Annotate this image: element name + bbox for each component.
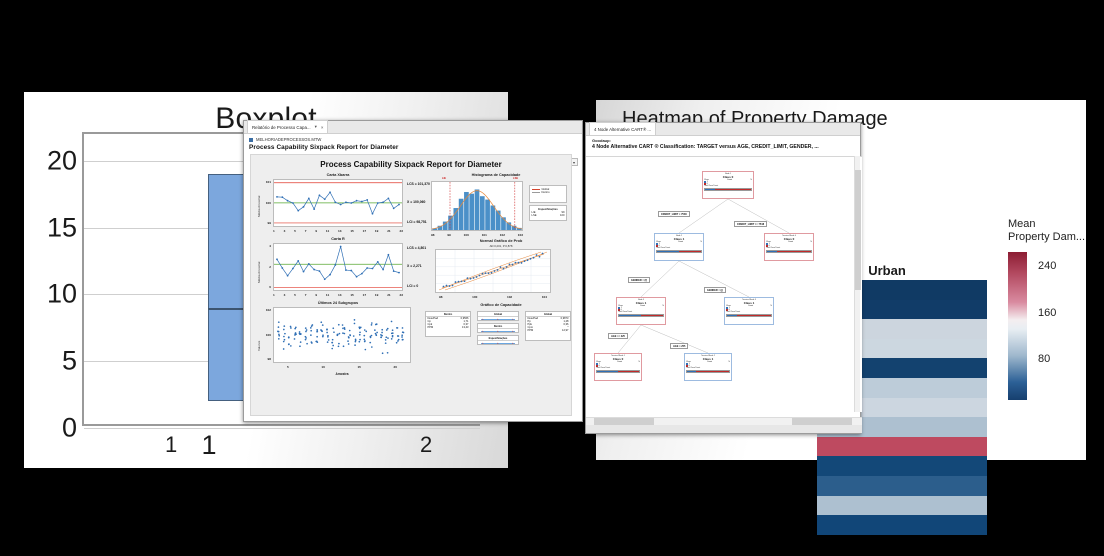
cart-class-pct (663, 309, 664, 311)
window-minitab[interactable]: Relatório de Processo Capa... ▾ × MELHOR… (243, 120, 583, 422)
cart-bar-segment-1 (687, 371, 696, 372)
probplot-title: Normal Gráfico de Prob (426, 239, 576, 243)
tick-label: 17 (363, 229, 366, 233)
histogram-lie-marker: LIE (442, 177, 446, 180)
probplot-svg (436, 250, 550, 292)
cart-class-count (743, 183, 744, 185)
slide-number-1: 1 (165, 432, 177, 458)
tick-label: 15 (357, 365, 360, 369)
cart-node[interactable]: Terminal Node 3Class 1ClassCount%1 0 Tot… (724, 297, 774, 325)
subgroups-ytick-hi: 102 (261, 308, 271, 312)
x-tick-1: 1 (144, 430, 274, 461)
cart-bar-segment-1 (767, 251, 777, 252)
y-tick-10: 10 (47, 279, 77, 310)
xbar-ytick-hi: 101 (263, 180, 271, 184)
cart-node-bar-header: Total Class/Count (596, 367, 640, 369)
r-center: X = 2,271 (407, 264, 422, 268)
window-cart[interactable]: 4 Node Alternative CART® ... Goodaup: 4 … (585, 122, 861, 434)
probplot-subtitle: AD:0,201, P:0,878 (426, 244, 576, 248)
cart-node-bar-header: Total Class/Count (766, 247, 812, 249)
r-y-ticks: 4 2 0 (265, 244, 271, 289)
tick-label: 9 (315, 293, 317, 297)
table-cell-value: 12,97 (562, 329, 569, 332)
cart-node[interactable]: Node 1Class 0ClassCount%1 0 Total Class/… (702, 171, 754, 199)
cart-split-label: CREDIT_LIMIT < 7548 (658, 211, 690, 217)
cart-node[interactable]: Terminal Node 4Class 0ClassCount%1 0 Tot… (764, 233, 814, 261)
cart-vscroll-thumb[interactable] (855, 170, 861, 290)
tick-label: 19 (375, 229, 378, 233)
tick-label: 5 (294, 229, 296, 233)
cart-node[interactable]: Terminal Node 1Class 0ClassCount%1 0 Tot… (594, 353, 642, 381)
histogram-spec-box: Especificações LIE 99 LSE 100 (529, 205, 567, 221)
histogram-x-ticks: 9899100101102103 (431, 233, 523, 237)
slide-number-2: 2 (420, 432, 432, 458)
slide-canvas: Boxplot 20 15 10 5 0 1 Heatmap of Proper… (0, 0, 1104, 556)
tick-label: 10 (321, 365, 324, 369)
heatmap-cell[interactable] (817, 456, 987, 476)
cart-class-count (631, 365, 632, 367)
legend-swatch-global (532, 189, 540, 190)
tick-label: 15 (350, 293, 353, 297)
cart-title: 4 Node Alternative CART ® Classification… (586, 143, 860, 153)
minitab-report-heading: Process Capability Sixpack Report for Di… (244, 142, 582, 154)
legend-title-line2: Property Dam... (1008, 231, 1104, 244)
histogram-legend: Global Dentro (529, 185, 567, 203)
cart-node[interactable]: Terminal Node 2Class 1ClassCount%1 0 Tot… (684, 353, 732, 381)
cart-bar-segment-0 (618, 371, 639, 372)
cart-col-count: Count (707, 361, 712, 363)
tick-label: 98 (431, 233, 434, 237)
capability-strip-global: Global + + + (477, 311, 519, 321)
table-cell-label: PPM (528, 329, 534, 332)
cart-class-count (655, 309, 656, 311)
histogram-svg (432, 182, 522, 230)
xbar-ytick-mid: 100 (263, 201, 271, 205)
table-cell-label: PPM (428, 326, 434, 329)
minitab-file-name: MELHORIADEPROCESSOS.MTW (256, 137, 321, 142)
tick-label: 7 (305, 229, 307, 233)
subgroup-scatter-svg (274, 308, 410, 362)
cart-node[interactable]: Node 3Class 1ClassCount%1 0 Total Class/… (616, 297, 666, 325)
cart-col-count: Count (678, 241, 683, 243)
r-chart-title: Carta R (263, 237, 413, 241)
close-icon[interactable]: × (321, 125, 324, 130)
legend-tick-240: 240 (1038, 260, 1056, 272)
cart-node[interactable]: Node 2Class 1ClassCount%1 0 Total Class/… (654, 233, 704, 261)
minitab-file-bar: MELHORIADEPROCESSOS.MTW (244, 134, 582, 142)
xbar-ytick-lo: 99 (263, 221, 271, 225)
cart-class-pct (701, 245, 702, 247)
xbar-plot-area (273, 179, 403, 227)
legend-colorbar (1008, 252, 1027, 400)
xbar-x-ticks: 1357911131517192123 (273, 229, 403, 233)
cart-node-bar (704, 188, 752, 191)
histogram-title: Histograma de Capacidade (426, 173, 566, 177)
cart-node-bar-header: Total Class/Count (618, 311, 664, 313)
cart-class-pct (771, 309, 772, 311)
xbar-ucl: LCS = 101,370 (407, 182, 430, 186)
cart-bar-segment-1 (727, 315, 737, 316)
histogram-plot-area (431, 181, 523, 231)
capability-within-table: Dentro DesvPad0,9566Cp1,71Cpk0,37PPM13,4… (425, 311, 471, 337)
probplot-plot-area (435, 249, 551, 293)
tick-label: 7 (305, 293, 307, 297)
heatmap-cell[interactable] (817, 476, 987, 496)
tick-label: 13 (338, 293, 341, 297)
cart-split-label: GENDER = (j) (704, 287, 726, 293)
worksheet-icon (249, 138, 253, 142)
tick-label: 9 (315, 229, 317, 233)
heatmap-cell[interactable] (817, 496, 987, 516)
tick-label: 11 (326, 229, 329, 233)
xbar-lcl: LCI = 98,751 (407, 220, 427, 224)
legend-tick-160: 160 (1038, 307, 1056, 319)
y-tick-20: 20 (47, 145, 77, 176)
cart-node-bar-header: Total Class/Count (726, 311, 772, 313)
tick-label: 100 (472, 295, 477, 299)
cart-bar-segment-0 (696, 371, 729, 372)
tick-label: 15 (350, 229, 353, 233)
cart-col-count: Count (727, 179, 732, 181)
tick-label: 21 (387, 293, 390, 297)
cart-col-count: Count (640, 305, 645, 307)
r-x-ticks: 1357911131517192123 (273, 293, 403, 297)
legend-tick-80: 80 (1038, 353, 1050, 365)
minitab-tabstrip: Relatório de Processo Capa... ▾ × (244, 121, 582, 134)
histogram-lse-marker: LSE (513, 177, 518, 180)
cart-bar-segment-0 (777, 251, 811, 252)
subgroups-x-ticks: 5101520 (287, 365, 397, 369)
capability-strip-within: Dentro + + + (477, 323, 519, 333)
r-lcl: LCI = 0 (407, 284, 418, 288)
cart-class-pct (729, 365, 730, 367)
cart-class-pct (751, 183, 752, 185)
legend-label-within: Dentro (542, 191, 550, 194)
tick-label: 102 (500, 233, 505, 237)
heatmap-cell[interactable] (817, 515, 987, 535)
cart-split-label: AGE >= 225 (608, 333, 628, 339)
cart-bar-segment-1 (657, 251, 679, 252)
cart-bar-segment-1 (597, 371, 618, 372)
r-ytick-hi: 4 (265, 244, 271, 248)
subgroups-x-axis-label: Amostra (273, 372, 411, 376)
tick-label: 104 (542, 295, 547, 299)
cart-node-bar (618, 314, 664, 317)
tick-label: 101 (482, 233, 487, 237)
cart-split-label: AGE < 255 (670, 343, 688, 349)
capability-title: Gráfico de Capacidade (426, 303, 576, 307)
tick-label: 13 (338, 229, 341, 233)
tick-label: 1 (273, 229, 275, 233)
xbar-chart-title: Carta Xbarra (263, 173, 413, 177)
cart-split-label: CREDIT_LIMIT >= 7548 (734, 221, 767, 227)
subgroups-ytick-mid: 100 (261, 333, 271, 337)
cart-class-count (763, 309, 764, 311)
tick-label: 98 (439, 295, 442, 299)
within-table-rows: DesvPad0,9566Cp1,71Cpk0,37PPM13,43 (426, 317, 470, 329)
cart-tabstrip: 4 Node Alternative CART® ... (586, 123, 860, 136)
r-y-axis-label: Média Amostral (257, 262, 261, 283)
minitab-graph-canvas: Process Capability Sixpack Report for Di… (250, 154, 572, 416)
cart-bar-segment-1 (619, 315, 641, 316)
cart-bar-segment-1 (705, 189, 715, 190)
legend-title: Mean Property Dam... (1008, 218, 1104, 244)
tick-label: 19 (375, 293, 378, 297)
cart-col-count: Count (788, 241, 793, 243)
cart-tab[interactable]: 4 Node Alternative CART® ... (589, 122, 656, 135)
tick-label: 11 (326, 293, 329, 297)
cart-horizontal-scrollbar[interactable] (586, 417, 862, 425)
r-plot-area (273, 243, 403, 291)
table-row: PPM12,97 (526, 329, 570, 332)
cart-node-bar (656, 250, 702, 253)
xbar-y-ticks: 101 100 99 (263, 180, 271, 225)
cart-tab-label: 4 Node Alternative CART® ... (594, 127, 651, 132)
tick-label: 17 (363, 293, 366, 297)
cart-split-label: GENDER = (f) (628, 277, 650, 283)
y-tick-5: 5 (62, 346, 77, 377)
cart-class-count (803, 245, 804, 247)
graph-title: Process Capability Sixpack Report for Di… (251, 155, 571, 169)
tick-label: 1 (273, 293, 275, 297)
cart-node-bar-header: Total Class/Count (704, 185, 752, 187)
legend-title-line1: Mean (1008, 218, 1104, 231)
cart-class-count (693, 245, 694, 247)
tick-label: 20 (394, 365, 397, 369)
control-chart-svg (274, 180, 402, 226)
subgroups-chart-title: Últimos 24 Subgrupos (263, 301, 413, 305)
cart-bar-segment-0 (715, 189, 751, 190)
capability-overall-table: Global DesvPad0,9873Pp1,28Ppk0,36Cpm*PPM… (525, 311, 571, 341)
tick-label: 103 (518, 233, 523, 237)
cart-class-count (721, 365, 722, 367)
cart-node-bar (596, 370, 640, 373)
probplot-x-ticks: 98100102104 (439, 295, 547, 299)
capability-strip-spec: Especificações + + + (477, 335, 519, 345)
tick-label: 99 (447, 233, 450, 237)
cart-bar-segment-0 (679, 251, 701, 252)
xbar-y-axis-label: Média Amostral (257, 196, 261, 217)
cart-bar-segment-0 (641, 315, 663, 316)
cart-tree-canvas[interactable]: Node 1Class 0ClassCount%1 0 Total Class/… (586, 156, 862, 412)
xbar-center: X = 100,060 (407, 200, 425, 204)
tick-label: 23 (400, 293, 403, 297)
cart-node-bar (686, 370, 730, 373)
cart-class-pct (811, 245, 812, 247)
tick-label: 5 (294, 293, 296, 297)
cart-class-pct (639, 365, 640, 367)
subgroups-plot-area (273, 307, 411, 363)
subgroups-y-ticks: 102 100 98 (261, 308, 271, 361)
r-ytick-lo: 0 (265, 285, 271, 289)
cart-status-bar (586, 425, 862, 433)
cart-bar-segment-0 (737, 315, 771, 316)
overall-table-rows: DesvPad0,9873Pp1,28Ppk0,36Cpm*PPM12,97 (526, 317, 570, 332)
tick-label: 3 (284, 293, 286, 297)
cart-node-bar-header: Total Class/Count (656, 247, 702, 249)
y-tick-15: 15 (47, 212, 77, 243)
cart-col-count: Count (617, 361, 622, 363)
tick-label: 21 (387, 229, 390, 233)
cart-node-bar-header: Total Class/Count (686, 367, 730, 369)
minitab-tab-label: Relatório de Processo Capa... (252, 125, 311, 130)
cart-node-bar (766, 250, 812, 253)
control-chart-svg (274, 244, 402, 290)
spec-lse-value: 100 (560, 214, 564, 217)
heatmap-legend: Mean Property Dam... 240 160 80 (1008, 218, 1104, 244)
spec-lse-label: LSE (532, 214, 537, 217)
minitab-tab[interactable]: Relatório de Processo Capa... ▾ × (247, 120, 328, 133)
subgroups-ytick-lo: 98 (261, 357, 271, 361)
restore-icon[interactable]: ▾ (315, 124, 317, 130)
legend-swatch-within (532, 192, 540, 193)
table-cell-value: 13,43 (462, 326, 469, 329)
tick-label: 102 (507, 295, 512, 299)
cart-col-count: Count (748, 305, 753, 307)
gridline-0 (84, 428, 480, 429)
tick-label: 5 (287, 365, 289, 369)
y-tick-0: 0 (62, 413, 77, 444)
tick-label: 23 (400, 229, 403, 233)
cart-node-bar (726, 314, 772, 317)
r-ucl: LCS = 4,801 (407, 246, 426, 250)
table-row: PPM13,43 (426, 326, 470, 329)
tick-label: 100 (464, 233, 469, 237)
cart-subtitle: Goodaup: (586, 136, 860, 143)
tick-label: 3 (284, 229, 286, 233)
r-ytick-mid: 2 (265, 265, 271, 269)
cart-vertical-scrollbar[interactable] (854, 156, 860, 412)
heatmap-cell[interactable] (817, 437, 987, 457)
